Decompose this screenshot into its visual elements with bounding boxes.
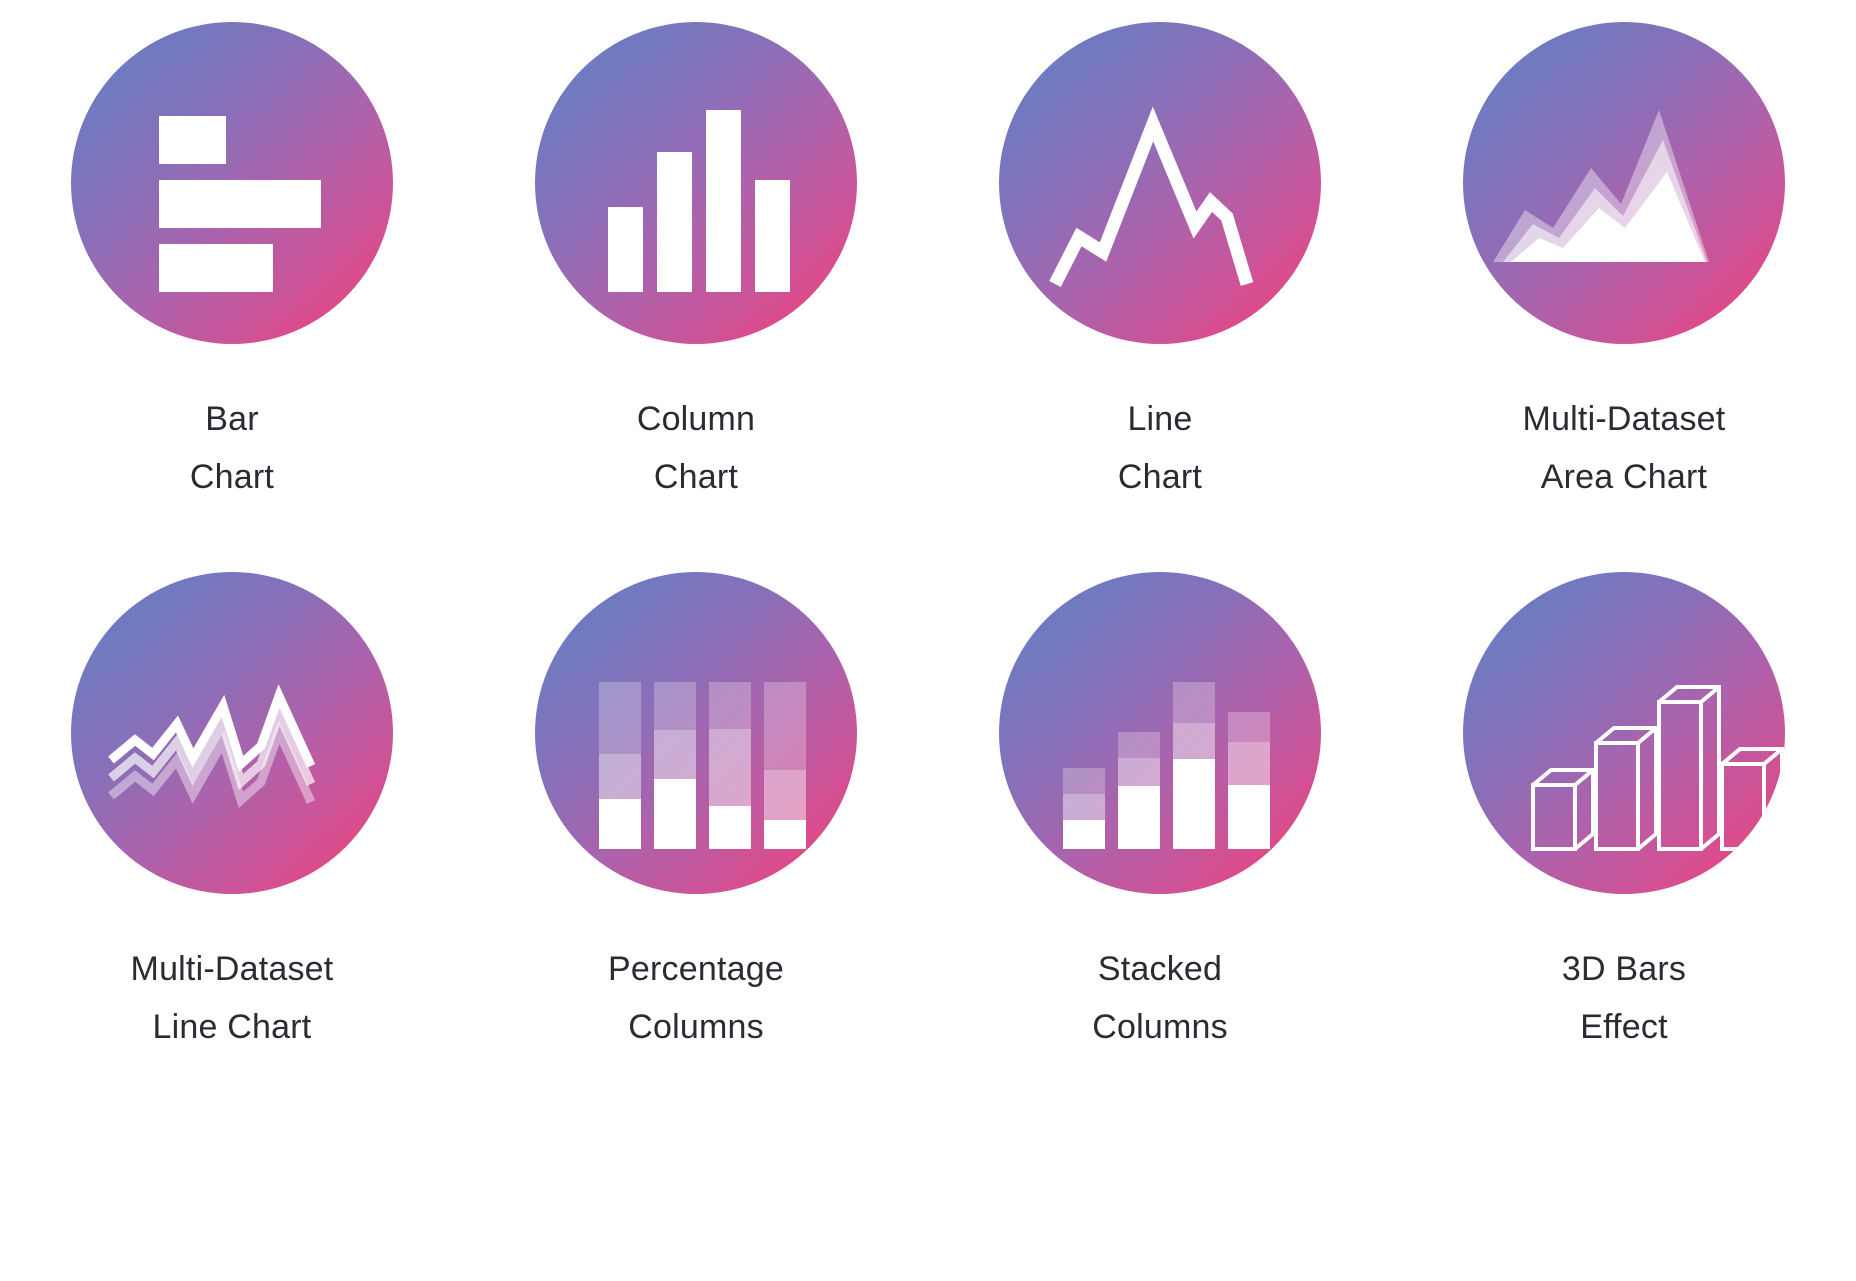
icon-cell-multi-dataset-area-chart[interactable]: Multi-Dataset Area Chart [1392,22,1856,572]
multi-dataset-line-chart-icon [71,572,393,894]
multi-dataset-area-chart-icon [1463,22,1785,344]
bar-chart-icon-circle[interactable] [71,22,393,344]
percentage-columns-icon [535,572,857,894]
icon-grid: Bar Chart Column Chart Line Chart [0,0,1856,1100]
icon-cell-line-chart[interactable]: Line Chart [928,22,1392,572]
three-d-bars-icon-circle[interactable] [1463,572,1785,894]
icon-cell-column-chart[interactable]: Column Chart [464,22,928,572]
icon-label-percentage-columns: Percentage Columns [608,940,784,1057]
three-d-bars-icon [1463,572,1785,894]
percentage-columns-icon-circle[interactable] [535,572,857,894]
icon-label-3d-bars-effect: 3D Bars Effect [1562,940,1686,1057]
icon-label-stacked-columns: Stacked Columns [1092,940,1228,1057]
icon-cell-percentage-columns[interactable]: Percentage Columns [464,572,928,1122]
icon-label-line-chart: Line Chart [1118,390,1202,507]
stacked-columns-icon-circle[interactable] [999,572,1321,894]
icon-cell-bar-chart[interactable]: Bar Chart [0,22,464,572]
bar-chart-icon [71,22,393,344]
line-chart-icon [999,22,1321,344]
icon-cell-multi-dataset-line-chart[interactable]: Multi-Dataset Line Chart [0,572,464,1122]
multi-dataset-area-chart-icon-circle[interactable] [1463,22,1785,344]
icon-cell-3d-bars-effect[interactable]: 3D Bars Effect [1392,572,1856,1122]
icon-label-bar-chart: Bar Chart [190,390,274,507]
icon-label-multi-dataset-line-chart: Multi-Dataset Line Chart [131,940,334,1057]
stacked-columns-icon [999,572,1321,894]
icon-sheet: Bar Chart Column Chart Line Chart [0,0,1856,1281]
icon-label-multi-dataset-area-chart: Multi-Dataset Area Chart [1523,390,1726,507]
column-chart-icon [535,22,857,344]
line-chart-icon-circle[interactable] [999,22,1321,344]
icon-cell-stacked-columns[interactable]: Stacked Columns [928,572,1392,1122]
column-chart-icon-circle[interactable] [535,22,857,344]
icon-label-column-chart: Column Chart [637,390,755,507]
multi-dataset-line-chart-icon-circle[interactable] [71,572,393,894]
